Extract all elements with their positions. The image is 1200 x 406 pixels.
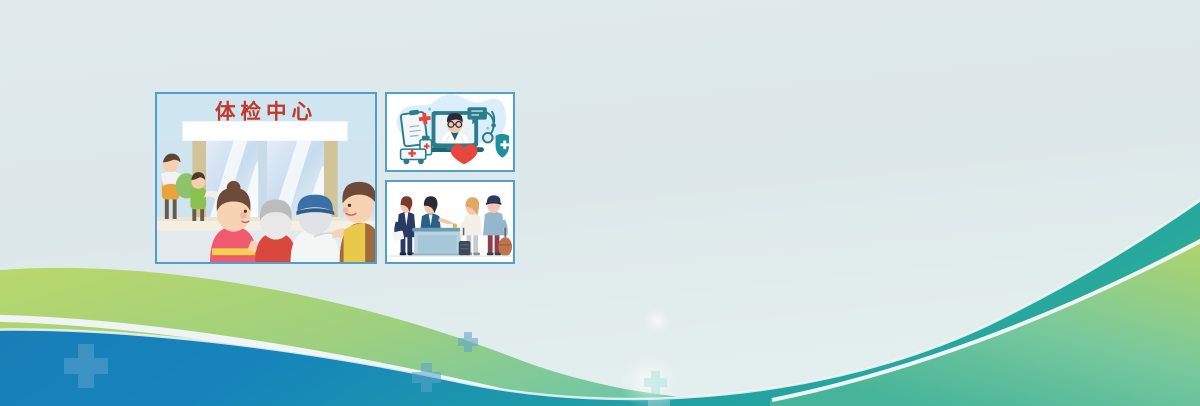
signboard-banner <box>183 121 348 141</box>
gallery-item-reception-desk[interactable]: Hotel or clinic reception desk with two … <box>385 180 515 264</box>
desk-items <box>447 223 457 228</box>
glow-square <box>648 400 670 406</box>
decor-dot <box>486 127 489 130</box>
decor-dot <box>428 108 431 111</box>
banner-stage: People queuing outside a health examinat… <box>0 0 1200 406</box>
reception-counter <box>412 228 462 257</box>
gallery-item-telemedicine[interactable]: Doctor appearing on a laptop screen with… <box>385 92 515 172</box>
gallery-item-health-check-center[interactable]: People queuing outside a health examinat… <box>155 92 377 264</box>
stethoscope-joint <box>491 123 496 128</box>
floor-line <box>387 255 513 256</box>
telemedicine-illustration <box>387 94 513 170</box>
glow-dot <box>643 307 671 335</box>
health-check-center-illustration: 体检中心 <box>157 94 375 262</box>
sign-text: 体检中心 <box>215 99 317 123</box>
image-gallery: People queuing outside a health examinat… <box>155 92 515 264</box>
reception-desk-illustration <box>387 182 513 262</box>
